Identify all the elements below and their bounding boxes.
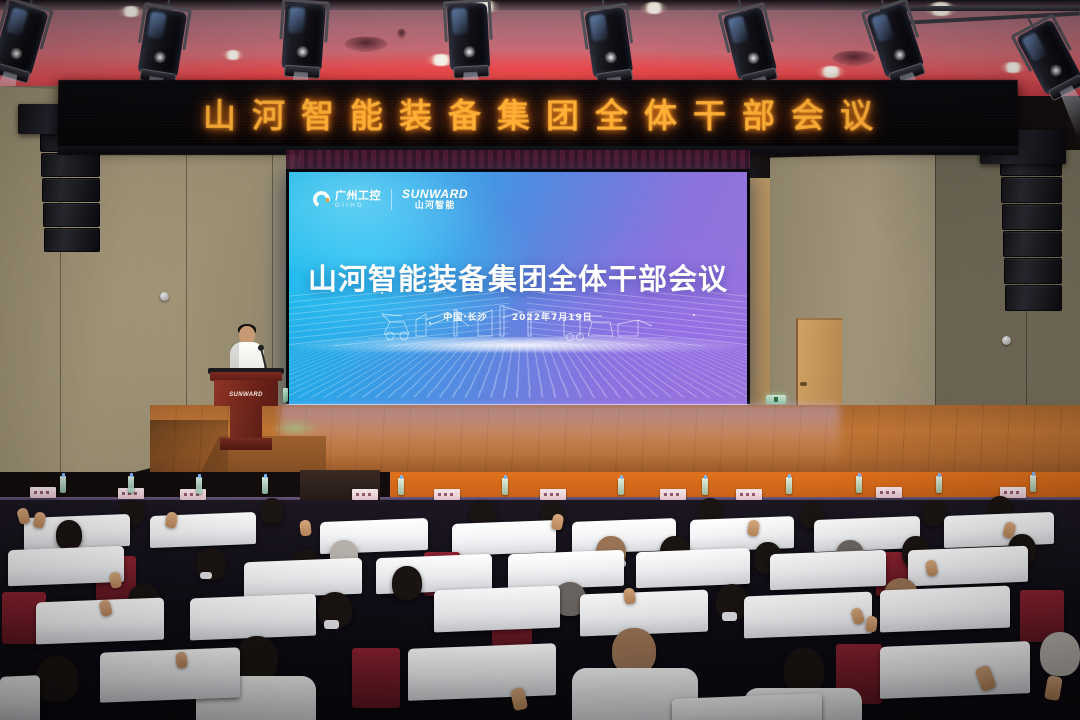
line-array-speaker-right: [1000, 150, 1060, 312]
slide-sparkle: [381, 292, 383, 294]
face-mask: [200, 572, 212, 579]
water-bottle: [60, 476, 66, 493]
ceiling-downlight: [640, 2, 668, 14]
water-bottle: [1030, 475, 1036, 492]
audience-seat: [880, 586, 1010, 633]
name-card: [540, 489, 566, 500]
logo-primary-cn: 广州工控: [335, 190, 381, 201]
ceiling-downlight: [816, 66, 846, 78]
podium: SUNWARD: [214, 372, 278, 450]
g-logo-icon: [313, 191, 330, 208]
audience-seat: [0, 675, 40, 720]
podium-front: SUNWARD: [214, 380, 278, 406]
name-card: [180, 489, 206, 500]
water-bottle: [128, 476, 134, 493]
logo-secondary-cn: 山河智能: [402, 202, 468, 211]
logo-sunward: SUNWARD 山河智能: [402, 188, 468, 211]
slide-logos: 广州工控 GIIHG SUNWARD 山河智能: [313, 188, 468, 211]
slide: 广州工控 GIIHG SUNWARD 山河智能 山河智能装备集团全体干部会议 中…: [289, 172, 747, 406]
water-bottle: [702, 478, 708, 495]
presentation-screen: 广州工控 GIIHG SUNWARD 山河智能 山河智能装备集团全体干部会议 中…: [286, 169, 750, 409]
attendee-head: [36, 656, 78, 702]
water-bottle: [283, 388, 288, 402]
water-bottle: [502, 478, 508, 495]
attendee-head: [392, 566, 422, 600]
exit-sign: [766, 395, 786, 404]
water-bottle: [856, 476, 862, 493]
audience-seat: [434, 586, 560, 633]
auditorium-photo: 山河智能装备集团全体干部会议 广州工控 GIIHG SUNWARD 山河智能: [0, 0, 1080, 720]
face-mask: [722, 612, 737, 621]
name-card: [30, 487, 56, 498]
applauding-hand: [623, 587, 636, 604]
audience-seat: [100, 647, 240, 702]
attendee-head: [260, 498, 284, 524]
logo-divider: [391, 189, 392, 210]
stage-floor-reflection: [280, 405, 840, 467]
audience-seat: [8, 546, 124, 586]
audience-seat: [244, 558, 362, 599]
podium-base: [220, 438, 272, 450]
slide-perspective-grid: [289, 344, 747, 398]
audience-seat: [452, 520, 556, 556]
audience-seat: [190, 594, 316, 641]
podium-brand-label: SUNWARD: [214, 392, 278, 398]
ceiling-vent: [344, 36, 388, 52]
face-mask: [324, 620, 339, 629]
machinery-wireframe-icon: [368, 300, 668, 342]
led-banner: 山河智能装备集团全体干部会议: [58, 80, 1019, 146]
applauding-hand: [175, 651, 188, 668]
logo-primary-en: GIIHG: [335, 203, 381, 209]
attendee-head: [922, 500, 946, 526]
logo-guangzhou-gongkong: 广州工控 GIIHG: [313, 190, 381, 209]
name-card: [876, 487, 902, 498]
audience-seat: [672, 693, 822, 720]
audience-seat: [770, 550, 886, 590]
seat-back-frame: [352, 648, 400, 708]
led-banner-face: 山河智能装备集团全体干部会议: [58, 80, 1019, 146]
podium-column: [230, 406, 262, 440]
applauding-hand: [299, 519, 312, 536]
ceiling-downlight: [1000, 62, 1026, 73]
name-card: [352, 489, 378, 500]
name-card: [660, 489, 686, 500]
name-card: [736, 489, 762, 500]
attendee-head: [56, 520, 82, 550]
ceiling-downlight: [222, 50, 244, 60]
audience-seat: [944, 512, 1054, 548]
applauding-hand: [865, 615, 878, 632]
water-bottle: [398, 478, 404, 495]
slide-sparkle: [693, 314, 695, 316]
water-bottle: [262, 477, 268, 494]
water-bottle: [196, 477, 202, 494]
wall-knob: [1002, 336, 1011, 345]
logo-secondary-en: SUNWARD: [402, 188, 468, 200]
water-bottle: [618, 478, 624, 495]
ceiling-downlight: [118, 6, 144, 17]
audience-seat: [408, 643, 556, 701]
attendee-head: [1040, 632, 1080, 676]
name-card: [434, 489, 460, 500]
ceiling-sprinkler: [396, 28, 407, 39]
led-banner-text: 山河智能装备集团全体干部会议: [187, 89, 889, 137]
wall-knob: [160, 292, 169, 301]
ceiling-vent: [832, 50, 876, 66]
slide-sparkle: [641, 280, 643, 282]
audience-seat: [880, 641, 1030, 699]
door-handle-icon: [800, 382, 807, 386]
slide-sparkle: [429, 322, 431, 324]
water-bottle: [786, 477, 792, 494]
audience-seat: [636, 548, 750, 588]
water-bottle: [936, 476, 942, 493]
